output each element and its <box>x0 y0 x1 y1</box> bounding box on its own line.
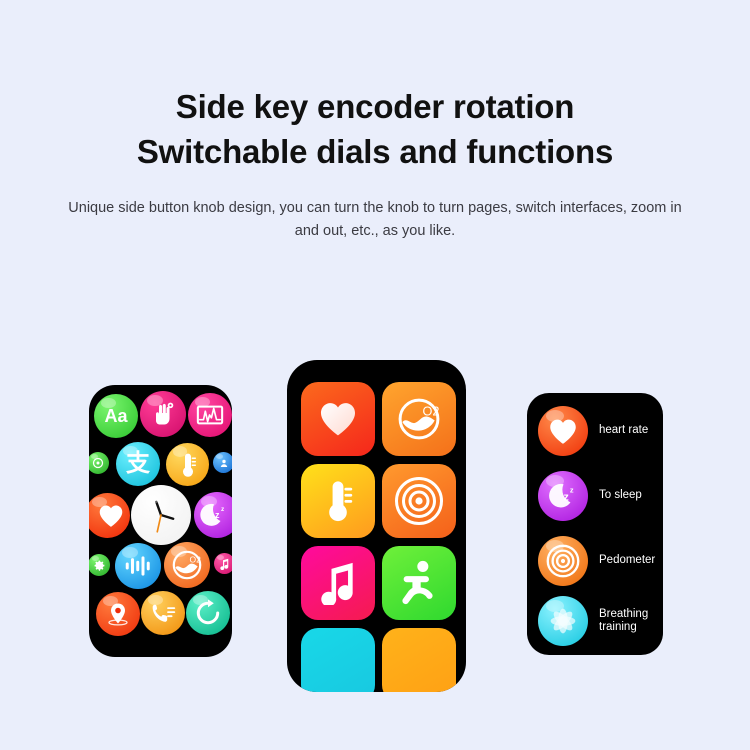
heart-icon <box>98 504 124 528</box>
alipay-icon: 支 <box>126 452 150 476</box>
app-tile-exercise[interactable] <box>382 546 456 620</box>
moon-zzz-icon: z z <box>198 501 228 529</box>
app-icon-location[interactable] <box>96 592 140 636</box>
heart-icon <box>548 418 578 445</box>
o2-drop-icon: O2 <box>170 548 204 582</box>
music-note-icon <box>319 561 357 605</box>
moon-icon-badge: z z <box>538 471 588 521</box>
list-menu-watch[interactable]: heart rate z z To sleep Pedometer <box>527 393 663 655</box>
app-icon-refresh[interactable] <box>186 591 230 635</box>
app-tile-partial-left[interactable] <box>301 628 375 692</box>
list-item-breathing-training[interactable]: Breathing training <box>538 593 654 649</box>
phone-list-icon <box>150 601 177 626</box>
app-icon-ecg[interactable] <box>188 393 232 437</box>
headline-line-1: Side key encoder rotation <box>0 84 750 129</box>
list-item-label: Breathing training <box>599 608 654 635</box>
app-icon-text-size[interactable]: Aa <box>94 394 138 438</box>
app-icon-music-small[interactable] <box>214 553 232 574</box>
flower-icon <box>544 602 582 640</box>
app-tile-heart-rate[interactable] <box>301 382 375 456</box>
grid-dial-watch[interactable]: Aa 支 <box>89 385 232 657</box>
target-rings-icon <box>545 543 581 579</box>
o2-drop-icon: O2 <box>395 395 443 443</box>
app-icon-watch-face[interactable] <box>131 485 191 545</box>
heart-icon <box>318 401 358 437</box>
list-item-label: Pedometer <box>599 554 655 568</box>
refresh-icon <box>194 599 222 627</box>
target-rings-icon <box>393 475 445 527</box>
svg-text:z: z <box>221 506 225 513</box>
svg-text:O2: O2 <box>190 555 202 565</box>
headline-line-2: Switchable dials and functions <box>0 129 750 174</box>
ecg-chart-icon <box>196 404 224 426</box>
app-tile-partial-right[interactable] <box>382 628 456 692</box>
flower-icon-badge <box>538 596 588 646</box>
app-icon-heart-rate[interactable] <box>89 493 130 538</box>
aa-text-icon: Aa <box>104 407 127 425</box>
svg-text:z: z <box>215 510 220 520</box>
list-item-to-sleep[interactable]: z z To sleep <box>538 468 654 524</box>
gear-icon <box>93 559 106 572</box>
analog-clock-icon <box>133 487 189 543</box>
app-icon-settings-small[interactable] <box>89 554 110 576</box>
tile-grid-watch[interactable]: O2 <box>287 360 466 692</box>
app-icon-spo2[interactable]: O2 <box>164 542 210 588</box>
app-icon-sleep[interactable]: z z <box>194 492 232 538</box>
app-tile-spo2[interactable]: O2 <box>382 382 456 456</box>
waveform-icon <box>124 554 152 578</box>
svg-text:O2: O2 <box>423 405 440 419</box>
thermometer-icon <box>177 452 199 478</box>
list-item-pedometer[interactable]: Pedometer <box>538 533 654 589</box>
contact-person-icon <box>218 457 230 469</box>
app-icon-voice[interactable] <box>115 543 161 589</box>
heart-icon-badge <box>538 406 588 456</box>
app-icon-contacts-small[interactable] <box>213 452 232 473</box>
app-icon-thermometer[interactable] <box>166 443 209 486</box>
app-icon-compass-small[interactable] <box>89 452 109 474</box>
app-icon-gesture[interactable] <box>140 391 186 437</box>
hand-gesture-icon <box>149 400 177 428</box>
running-man-icon <box>397 560 441 606</box>
app-icon-alipay[interactable]: 支 <box>116 442 160 486</box>
music-note-icon <box>219 558 230 570</box>
app-tile-temperature[interactable] <box>301 464 375 538</box>
map-pin-icon <box>105 601 131 627</box>
app-tile-music[interactable] <box>301 546 375 620</box>
list-item-label: heart rate <box>599 424 648 438</box>
app-icon-phone[interactable] <box>141 591 185 635</box>
sub-copy-text: Unique side button knob design, you can … <box>60 197 690 243</box>
target-icon-badge <box>538 536 588 586</box>
svg-text:z: z <box>570 485 574 494</box>
app-tile-pedometer[interactable] <box>382 464 456 538</box>
list-item-label: To sleep <box>599 489 642 503</box>
moon-zzz-icon: z z <box>547 481 579 511</box>
thermometer-icon <box>321 479 355 523</box>
svg-text:z: z <box>564 491 569 503</box>
compass-icon <box>92 457 104 469</box>
list-item-heart-rate[interactable]: heart rate <box>538 403 654 459</box>
heading-block: Side key encoder rotation Switchable dia… <box>0 84 750 174</box>
